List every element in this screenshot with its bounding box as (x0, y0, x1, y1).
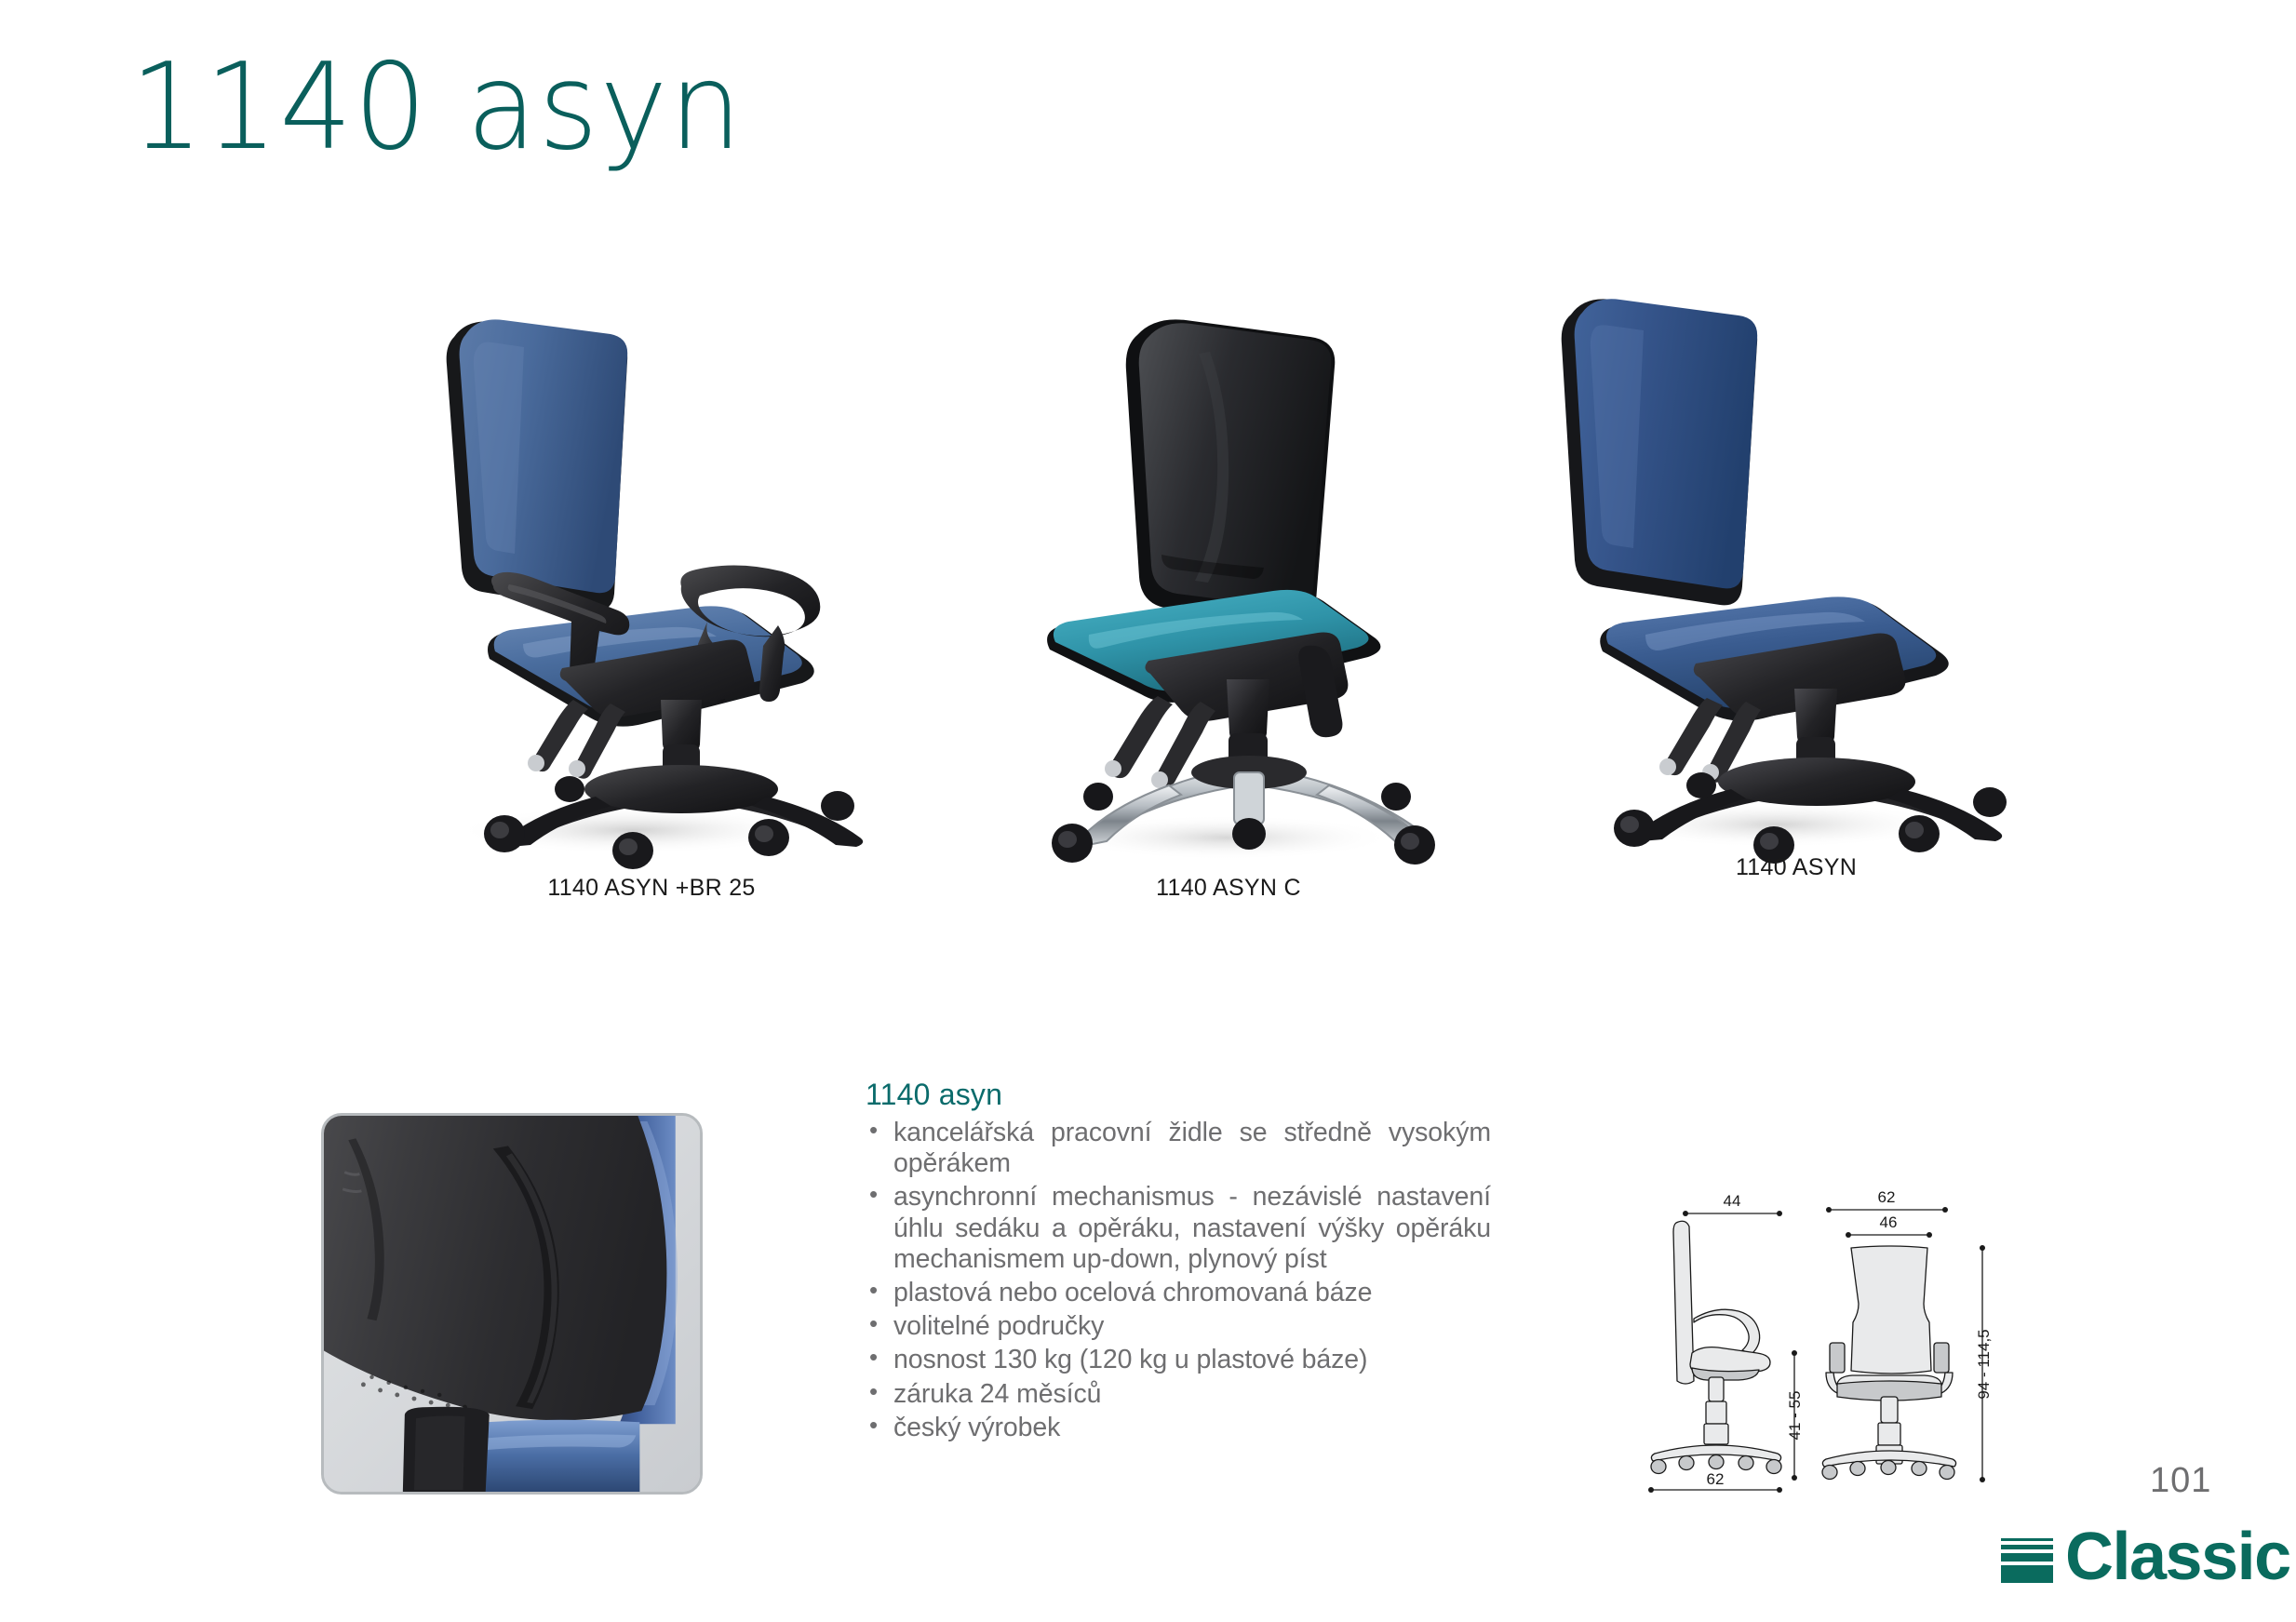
product-caption-1: 1140 ASYN +BR 25 (354, 875, 949, 902)
product-photo-row: 1140 ASYN +BR 25 (0, 279, 2296, 986)
description-heading: 1140 asyn (866, 1078, 1491, 1112)
stacked-bars-icon (2001, 1531, 2053, 1583)
dim-total-height: 94 - 114,5 (1975, 1329, 1993, 1399)
feature-text: volitelné područky (893, 1311, 1491, 1342)
feature-text: záruka 24 měsíců (893, 1379, 1491, 1410)
product-caption-3: 1140 ASYN (1498, 854, 2094, 881)
product-photo-3: 1140 ASYN (1498, 279, 2094, 986)
list-item: český výrobek (866, 1413, 1491, 1443)
backrest-detail-image (324, 1116, 700, 1492)
page-number: 101 (2150, 1461, 2211, 1501)
backrest-detail-photo (321, 1113, 703, 1495)
page-title: 1140 asyn (130, 48, 744, 168)
feature-text: plastová nebo ocelová chromovaná báze (893, 1278, 1491, 1308)
brand-name: Classic (2065, 1526, 2290, 1588)
list-item: nosnost 130 kg (120 kg u plastové báze) (866, 1345, 1491, 1375)
list-item: plastová nebo ocelová chromovaná báze (866, 1278, 1491, 1308)
list-item: kancelářská pracovní židle se středně vy… (866, 1118, 1491, 1179)
list-item: volitelné područky (866, 1311, 1491, 1342)
feature-text: kancelářská pracovní židle se středně vy… (893, 1118, 1491, 1179)
chair-image-asyn-br25 (354, 279, 949, 875)
list-item: asynchronní mechanismus - nezávislé nast… (866, 1182, 1491, 1275)
chair-image-asyn-c (931, 279, 1526, 875)
catalog-page: 1140 asyn (0, 0, 2296, 1622)
dim-seat-width: 46 (1880, 1213, 1898, 1231)
dim-side-depth: 44 (1724, 1192, 1741, 1210)
feature-text: nosnost 130 kg (120 kg u plastové báze) (893, 1345, 1491, 1375)
product-photo-1: 1140 ASYN +BR 25 (354, 279, 949, 986)
dim-seat-height: 41 - 55 (1786, 1391, 1804, 1441)
product-photo-2: 1140 ASYN C (931, 279, 1526, 986)
product-description: 1140 asyn kancelářská pracovní židle se … (866, 1078, 1491, 1446)
dim-base-width: 62 (1707, 1470, 1725, 1488)
product-caption-2: 1140 ASYN C (931, 875, 1526, 902)
dim-front-width: 62 (1878, 1188, 1896, 1206)
feature-text: český výrobek (893, 1413, 1491, 1443)
brand-logo: Classic (2001, 1526, 2290, 1588)
feature-text: asynchronní mechanismus - nezávislé nast… (893, 1182, 1491, 1275)
chair-image-asyn (1498, 279, 2094, 875)
feature-list: kancelářská pracovní židle se středně vy… (866, 1118, 1491, 1443)
list-item: záruka 24 měsíců (866, 1379, 1491, 1410)
dimension-drawing: .dl{stroke:#1a1a1a;stroke-width:1.3;fill… (1638, 1171, 2029, 1496)
